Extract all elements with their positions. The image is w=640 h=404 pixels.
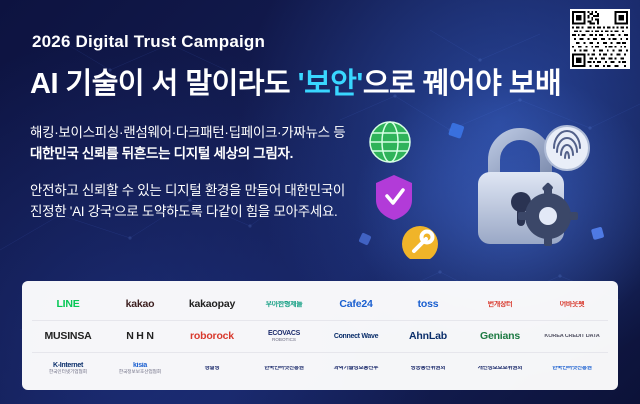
headline-highlight: '보안': [298, 68, 363, 100]
wrench-icon: [402, 226, 438, 259]
logo-genians: Genians: [464, 331, 536, 342]
logo-cafe24: Cafe24: [320, 299, 392, 310]
logo-row-2: MUSINSA N H N roborock ECOVACS ROBOTICS …: [32, 320, 608, 352]
logo-korea-credit-data: KOREA CREDIT DATA: [536, 334, 608, 340]
logo-musinsa: MUSINSA: [32, 331, 104, 342]
headline-part-2: 으로 꿰어야 보배: [363, 68, 561, 100]
logo-nhn: N H N: [104, 331, 176, 342]
logo-kakao: kakao: [104, 299, 176, 310]
campaign-kicker: 2026 Digital Trust Campaign: [32, 32, 265, 52]
logo-kisia: kisia 한국정보보호산업협회: [104, 362, 176, 374]
logo-kcc: 방송통신위원회: [392, 366, 464, 372]
logo-msit: 과학기술정보통신부: [320, 366, 392, 372]
logo-woowa-brothers: 우아한형제들: [248, 301, 320, 308]
logo-pipc: 개인정보보호위원회: [464, 366, 536, 372]
logo-bunjang: 번개장터: [464, 301, 536, 308]
logo-kisia-sub: 한국정보보호산업협회: [104, 370, 176, 375]
shield-icon: [376, 175, 412, 220]
logo-roborock: roborock: [176, 331, 248, 342]
logo-connect-wave: Connect Wave: [320, 333, 392, 340]
fingerprint-icon: [545, 126, 589, 170]
logo-kakaopay: kakaopay: [176, 299, 248, 310]
sponsor-logo-panel: LINE kakao kakaopay 우아한형제들 Cafe24 toss 번…: [22, 281, 618, 390]
security-illustration: [342, 104, 622, 259]
logo-police-agency: 경찰청: [176, 366, 248, 372]
logo-toss: toss: [392, 299, 464, 310]
headline-part-1: AI 기술이 서 말이라도: [30, 68, 298, 100]
logo-aboutpet: 어바웃펫: [536, 301, 608, 308]
logo-kisa: 한국인터넷진흥원: [248, 366, 320, 372]
logo-k-internet-sub: 한국인터넷기업협회: [32, 370, 104, 375]
logo-row-3: K-Internet 한국인터넷기업협회 kisia 한국정보보호산업협회 경찰…: [32, 352, 608, 384]
logo-row-1: LINE kakao kakaopay 우아한형제들 Cafe24 toss 번…: [32, 289, 608, 320]
logo-ahnlab: AhnLab: [392, 331, 464, 342]
logo-k-internet: K-Internet 한국인터넷기업협회: [32, 362, 104, 374]
campaign-poster: 2026 Digital Trust Campaign AI 기술이 서 말이라…: [0, 0, 640, 404]
logo-ecovacs: ECOVACS ROBOTICS: [248, 330, 320, 342]
logo-kcsa: 한국인터넷진흥원: [536, 366, 608, 372]
logo-line: LINE: [32, 299, 104, 310]
qr-code-icon[interactable]: [570, 9, 630, 69]
globe-icon: [370, 122, 410, 162]
page-title: AI 기술이 서 말이라도 '보안'으로 꿰어야 보배: [30, 60, 561, 102]
logo-ecovacs-sub: ROBOTICS: [248, 338, 320, 343]
